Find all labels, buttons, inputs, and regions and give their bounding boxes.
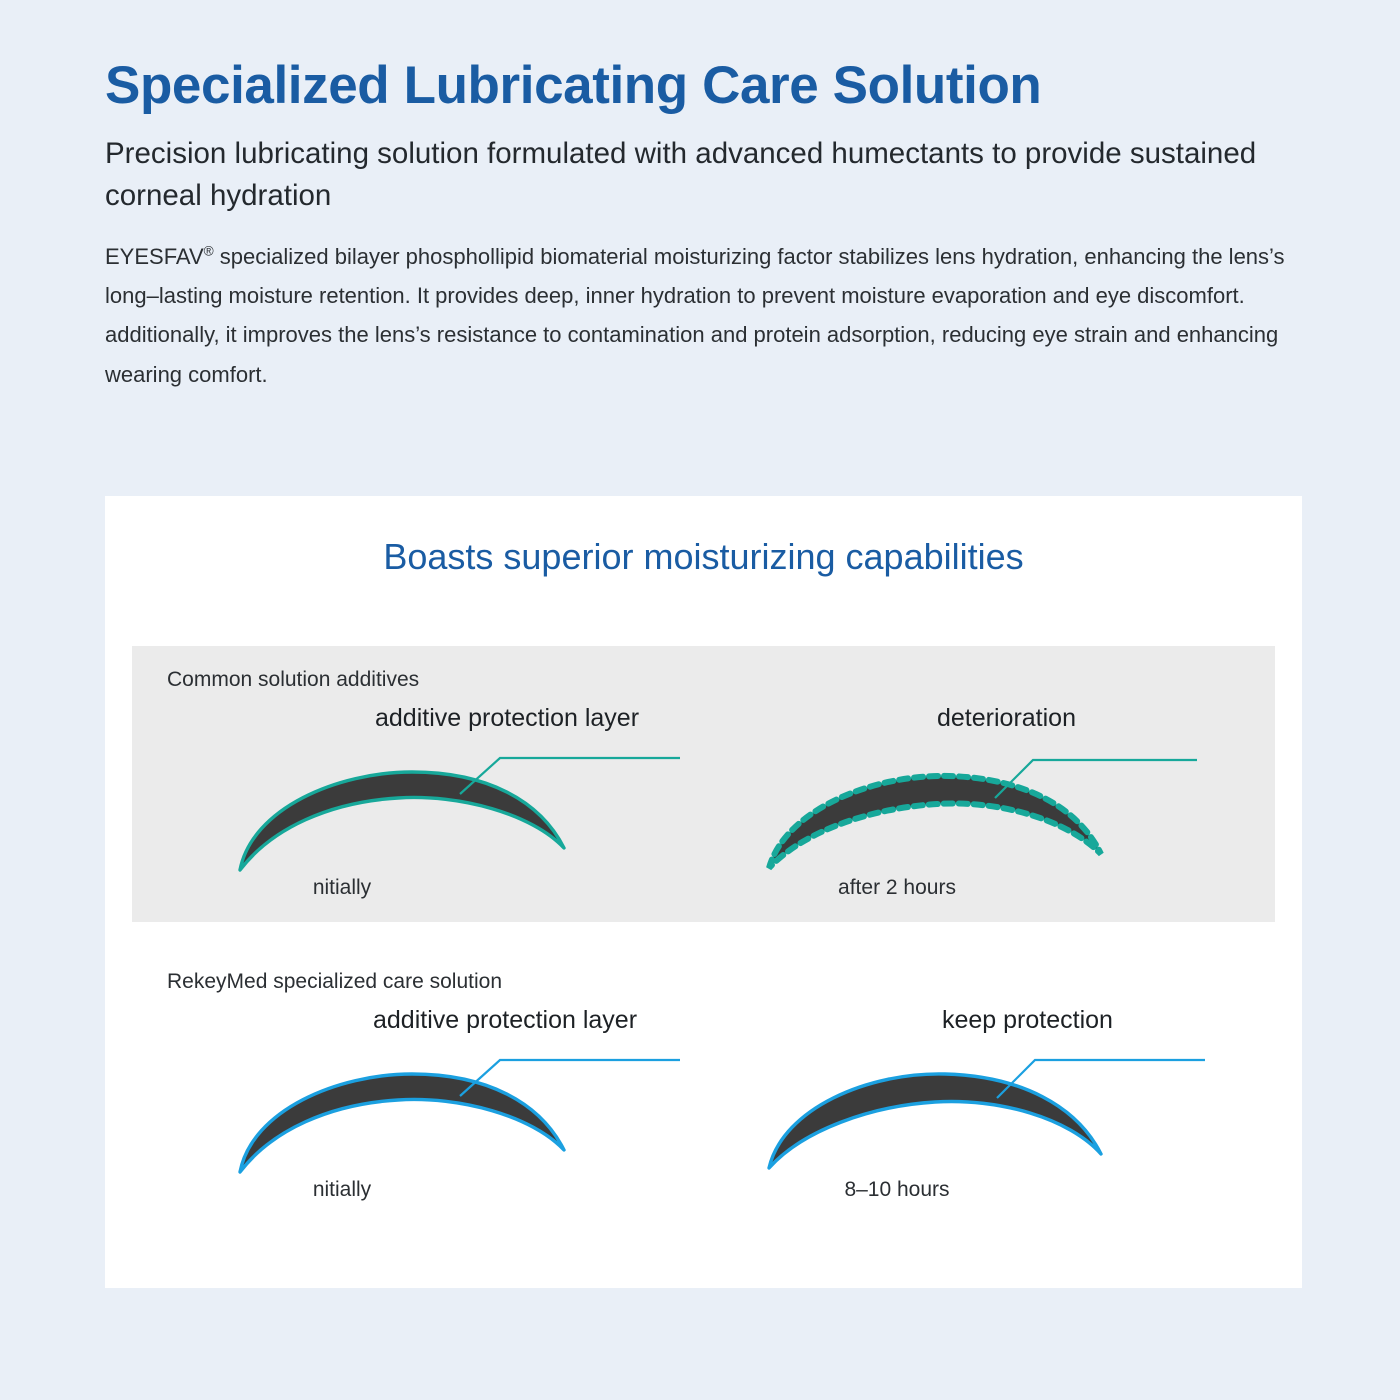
figure-caption: 8–10 hours [737,1178,1057,1202]
page-title: Specialized Lubricating Care Solution [105,56,1320,115]
lens-shape [240,772,564,870]
panel-label: RekeyMed specialized care solution [167,970,502,994]
brand-name: EYESFAV [105,244,204,269]
figure-caption: after 2 hours [737,876,1057,900]
callout-additive-protection-layer: additive protection layer [375,704,639,733]
lens-shape-deteriorating [769,776,1101,868]
panel-rekeymed-care-solution: RekeyMed specialized care solution addit… [132,948,1275,1248]
figure-rekeymed-8-10-hours: keep protection 8–10 hours [727,1000,1247,1215]
lens-shape [240,1074,564,1172]
callout-keep-protection: keep protection [942,1006,1113,1035]
page-subtitle: Precision lubricating solution formulate… [105,133,1320,217]
figure-caption: nitially [182,1178,502,1202]
lens-shape [769,1074,1101,1168]
figure-caption: nitially [182,876,502,900]
callout-additive-protection-layer: additive protection layer [373,1006,637,1035]
page-header: Specialized Lubricating Care Solution Pr… [105,56,1320,394]
panel-label: Common solution additives [167,668,419,692]
figure-common-initially: additive protection layer nitially [160,698,680,913]
page-root: Specialized Lubricating Care Solution Pr… [0,0,1400,1400]
page-body-paragraph: EYESFAV® specialized bilayer phosphollip… [105,237,1320,394]
panel-common-solution-additives: Common solution additives additive prote… [132,646,1275,922]
registered-trademark-icon: ® [204,244,214,259]
figure-rekeymed-initially: additive protection layer nitially [160,1000,680,1215]
callout-deterioration: deterioration [937,704,1076,733]
card-title: Boasts superior moisturizing capabilitie… [105,536,1302,578]
figure-common-after-2-hours: deterioration after 2 hours [727,698,1247,913]
feature-card: Boasts superior moisturizing capabilitie… [105,496,1302,1288]
body-paragraph-text: specialized bilayer phosphollipid biomat… [105,244,1285,386]
